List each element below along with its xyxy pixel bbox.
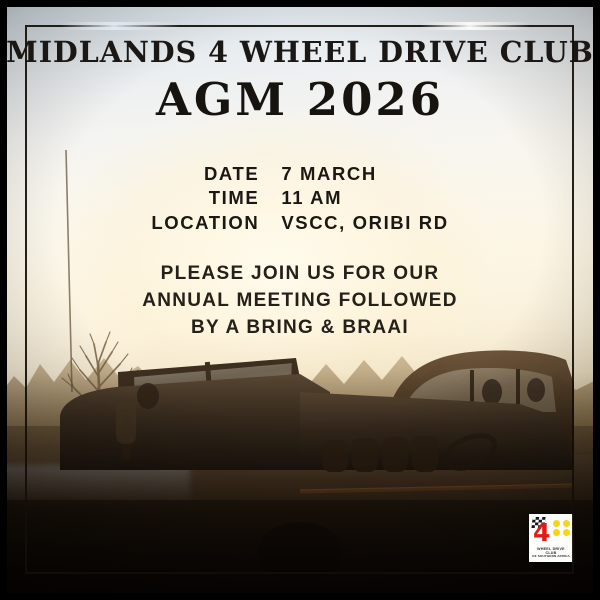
logo-dot (563, 520, 570, 527)
club-logo: 4 WHEEL DRIVE CLUB OF SOUTHERN AFRICA (529, 514, 573, 562)
logo-dot (563, 529, 570, 536)
club-logo-caption: WHEEL DRIVE CLUB OF SOUTHERN AFRICA (532, 547, 570, 559)
logo-dot (553, 520, 560, 527)
message-line-1: PLEASE JOIN US FOR OUR (85, 261, 515, 288)
logo-dot-grid (553, 520, 570, 536)
message-line-3: BY A BRING & BRAAI (85, 315, 515, 342)
detail-row-time: TIME 11 AM (151, 186, 448, 211)
detail-value-time: 11 AM (281, 186, 448, 211)
logo-caption-line2: OF SOUTHERN AFRICA (532, 555, 570, 559)
poster-content: MIDLANDS 4 WHEEL DRIVE CLUB AGM 2026 DAT… (0, 0, 600, 342)
event-title: AGM 2026 (0, 77, 600, 122)
logo-numeral: 4 (533, 522, 550, 544)
message-line-2: ANNUAL MEETING FOLLOWED (85, 288, 515, 315)
detail-value-location: VSCC, ORIBI RD (281, 211, 448, 236)
detail-label-date: DATE (151, 162, 281, 187)
club-name: MIDLANDS 4 WHEEL DRIVE CLUB (0, 38, 600, 67)
detail-row-location: LOCATION VSCC, ORIBI RD (151, 211, 448, 236)
detail-label-location: LOCATION (151, 211, 281, 236)
invitation-message: PLEASE JOIN US FOR OUR ANNUAL MEETING FO… (85, 261, 515, 342)
logo-dot (553, 529, 560, 536)
poster: MIDLANDS 4 WHEEL DRIVE CLUB AGM 2026 DAT… (0, 0, 600, 600)
detail-value-date: 7 MARCH (281, 162, 448, 187)
club-logo-mark: 4 (532, 517, 570, 545)
detail-label-time: TIME (151, 186, 281, 211)
detail-row-date: DATE 7 MARCH (151, 162, 448, 187)
event-details: DATE 7 MARCH TIME 11 AM LOCATION VSCC, O… (151, 162, 448, 236)
